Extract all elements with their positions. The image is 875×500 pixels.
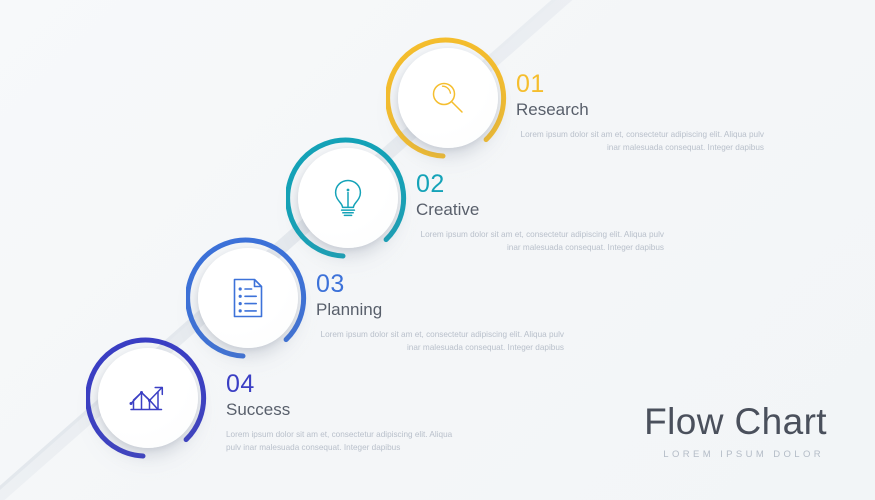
growth-chart-icon bbox=[125, 378, 171, 418]
chart-title: Flow Chart bbox=[644, 401, 827, 443]
step-description-4: Lorem ipsum dolor sit am et, consectetur… bbox=[226, 428, 458, 454]
step-title-4: Success bbox=[226, 399, 474, 421]
step-title-2: Creative bbox=[416, 199, 664, 221]
step-description-1: Lorem ipsum dolor sit am et, consectetur… bbox=[516, 128, 764, 154]
step-text-block-4: 04 Success Lorem ipsum dolor sit am et, … bbox=[226, 370, 474, 454]
step-icon-disc-2[interactable] bbox=[298, 148, 398, 248]
footer-block: Flow Chart LOREM IPSUM DOLOR bbox=[644, 401, 827, 460]
step-description-3: Lorem ipsum dolor sit am et, consectetur… bbox=[316, 328, 564, 354]
step-number-1: 01 bbox=[516, 70, 764, 98]
step-icon-disc-3[interactable] bbox=[198, 248, 298, 348]
chart-subtitle: LOREM IPSUM DOLOR bbox=[644, 449, 827, 460]
step-node-4[interactable] bbox=[86, 336, 210, 460]
step-title-3: Planning bbox=[316, 299, 564, 321]
step-number-2: 02 bbox=[416, 170, 664, 198]
step-icon-disc-4[interactable] bbox=[98, 348, 198, 448]
step-icon-disc-1[interactable] bbox=[398, 48, 498, 148]
infographic-canvas: 01 Research Lorem ipsum dolor sit am et,… bbox=[0, 0, 875, 500]
step-text-block-3: 03 Planning Lorem ipsum dolor sit am et,… bbox=[316, 270, 564, 354]
step-number-4: 04 bbox=[226, 370, 474, 398]
step-title-1: Research bbox=[516, 99, 764, 121]
magnifier-icon bbox=[427, 77, 469, 119]
document-list-icon bbox=[228, 276, 268, 320]
step-text-block-1: 01 Research Lorem ipsum dolor sit am et,… bbox=[516, 70, 764, 154]
step-text-block-2: 02 Creative Lorem ipsum dolor sit am et,… bbox=[416, 170, 664, 254]
step-number-3: 03 bbox=[316, 270, 564, 298]
step-description-2: Lorem ipsum dolor sit am et, consectetur… bbox=[416, 228, 664, 254]
lightbulb-icon bbox=[327, 176, 369, 220]
